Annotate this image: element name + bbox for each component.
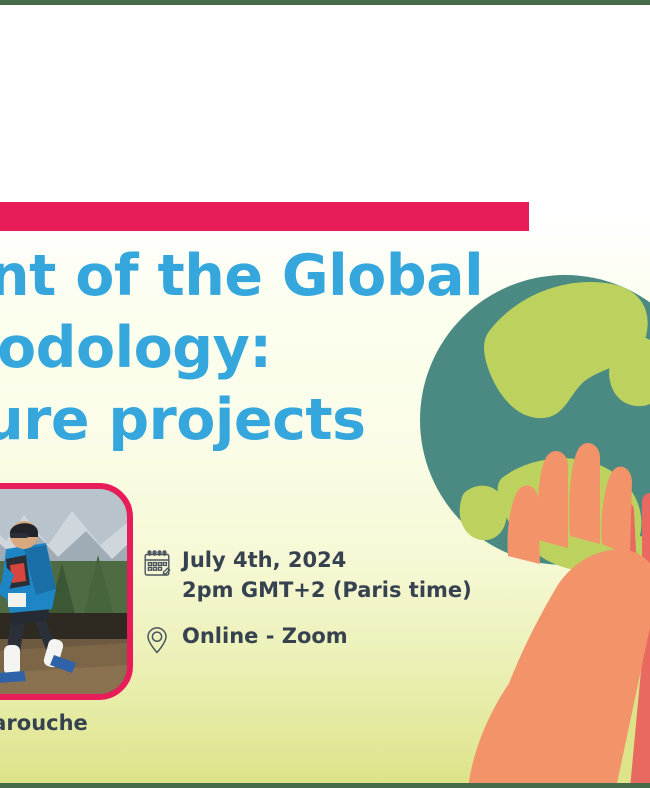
event-datetime: July 4th, 2024 2pm GMT+2 (Paris time) bbox=[182, 545, 472, 605]
event-date: July 4th, 2024 bbox=[182, 545, 472, 575]
event-location: Online - Zoom bbox=[182, 621, 348, 651]
page-title: ment of the Global ethodology: future pr… bbox=[0, 240, 592, 456]
poster-canvas: ment of the Global ethodology: future pr… bbox=[0, 0, 650, 788]
calendar-icon bbox=[142, 545, 182, 579]
top-edge-bar bbox=[0, 0, 650, 5]
accent-bar bbox=[0, 202, 529, 231]
detail-row-location: Online - Zoom bbox=[142, 621, 472, 655]
page-title-line-1: ment of the Global bbox=[0, 240, 592, 312]
speaker-name: ard Larouche bbox=[0, 710, 88, 736]
map-pin-icon bbox=[142, 621, 182, 655]
speaker-photo bbox=[0, 483, 133, 700]
event-details: July 4th, 2024 2pm GMT+2 (Paris time) On… bbox=[142, 545, 472, 671]
detail-row-datetime: July 4th, 2024 2pm GMT+2 (Paris time) bbox=[142, 545, 472, 605]
bottom-edge-bar bbox=[0, 783, 650, 788]
page-title-line-2: ethodology: bbox=[0, 312, 592, 384]
event-time: 2pm GMT+2 (Paris time) bbox=[182, 575, 472, 605]
page-title-line-3: future projects bbox=[0, 384, 592, 456]
